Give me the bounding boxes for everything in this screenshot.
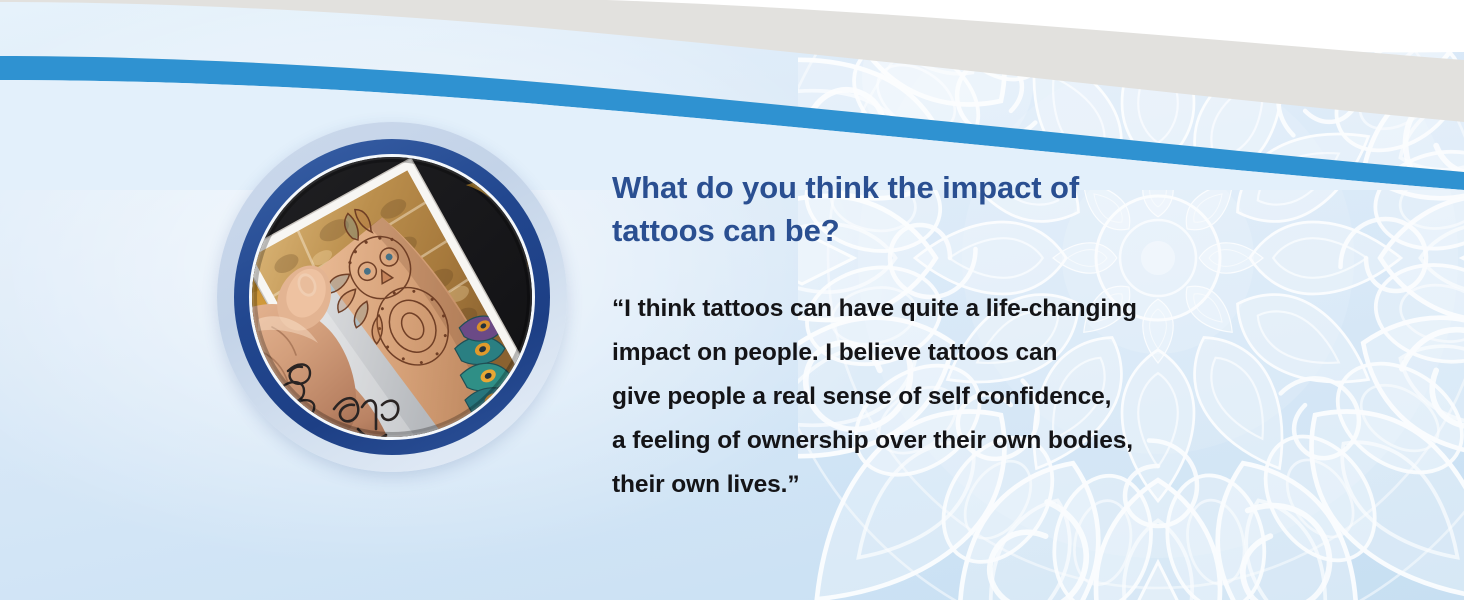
text-column: What do you think the impact of tattoos … xyxy=(612,166,1312,507)
photo-badge xyxy=(217,122,567,472)
tattoo-photo-in-hand-icon xyxy=(252,157,532,437)
page-title: What do you think the impact of tattoos … xyxy=(612,166,1312,252)
quote-text: “I think tattoos can have quite a life-c… xyxy=(612,252,1312,507)
quote-banner: What do you think the impact of tattoos … xyxy=(0,0,1464,600)
